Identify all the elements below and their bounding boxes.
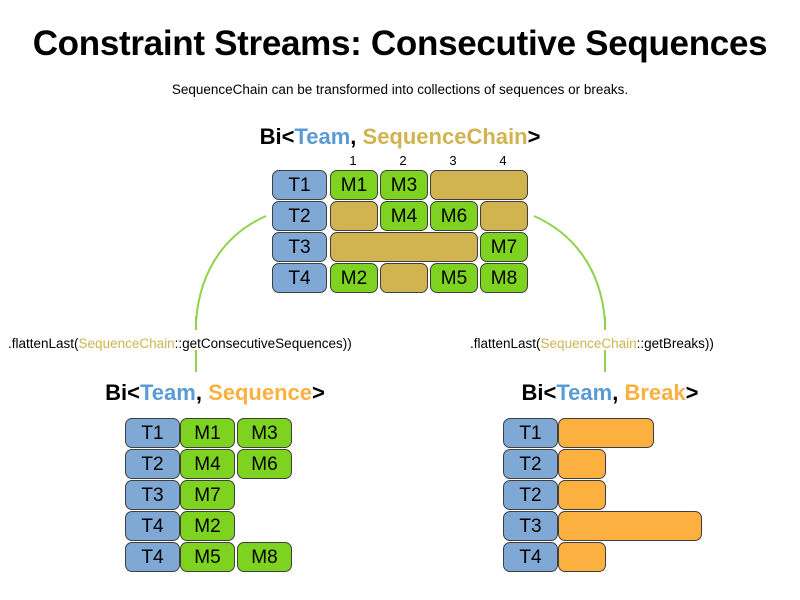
type-suffix: > bbox=[312, 380, 325, 405]
sequence-team-block-T1[interactable]: T1 bbox=[125, 418, 180, 448]
break-bar bbox=[558, 511, 702, 541]
source-type-header: Bi<Team, SequenceChain> bbox=[250, 124, 550, 150]
source-gap-block bbox=[430, 170, 528, 200]
type-suffix: > bbox=[528, 124, 541, 149]
source-column-label-4: 4 bbox=[479, 153, 527, 168]
sequence-team-block-T4[interactable]: T4 bbox=[125, 542, 180, 572]
source-match-block-M7[interactable]: M7 bbox=[480, 232, 528, 262]
source-team-block-T2[interactable]: T2 bbox=[272, 201, 327, 231]
sequence-match-block-M1[interactable]: M1 bbox=[180, 418, 235, 448]
sequence-team-block-T2[interactable]: T2 bbox=[125, 449, 180, 479]
sequence-team-block-T4[interactable]: T4 bbox=[125, 511, 180, 541]
type-prefix: Bi< bbox=[522, 380, 557, 405]
method-suffix: ::getBreaks)) bbox=[637, 336, 714, 351]
method-prefix: .flattenLast( bbox=[470, 336, 541, 351]
type-separator: , bbox=[350, 124, 362, 149]
source-match-block-M1[interactable]: M1 bbox=[330, 170, 378, 200]
sequence-match-block-M3[interactable]: M3 bbox=[237, 418, 292, 448]
type-separator: , bbox=[196, 380, 208, 405]
source-gap-block bbox=[330, 232, 478, 262]
source-gap-block bbox=[380, 263, 428, 293]
break-team-block-T2[interactable]: T2 bbox=[503, 480, 558, 510]
sequence-type-header: Bi<Team, Sequence> bbox=[75, 380, 355, 406]
sequence-match-block-M2[interactable]: M2 bbox=[180, 511, 235, 541]
type-prefix: Bi< bbox=[260, 124, 295, 149]
type-generic-sequencechain: SequenceChain bbox=[363, 124, 528, 149]
source-gap-block bbox=[480, 201, 528, 231]
break-bar bbox=[558, 480, 606, 510]
type-generic-team: Team bbox=[294, 124, 350, 149]
method-label-breaks: .flattenLast(SequenceChain::getBreaks)) bbox=[470, 336, 714, 351]
method-type: SequenceChain bbox=[541, 336, 637, 351]
type-suffix: > bbox=[686, 380, 699, 405]
source-column-label-2: 2 bbox=[379, 153, 427, 168]
break-bar bbox=[558, 449, 606, 479]
source-match-block-M6[interactable]: M6 bbox=[430, 201, 478, 231]
sequence-match-block-M4[interactable]: M4 bbox=[180, 449, 235, 479]
break-team-block-T2[interactable]: T2 bbox=[503, 449, 558, 479]
break-bar bbox=[558, 542, 606, 572]
type-generic-team: Team bbox=[556, 380, 612, 405]
type-prefix: Bi< bbox=[105, 380, 140, 405]
source-column-label-3: 3 bbox=[429, 153, 477, 168]
method-suffix: ::getConsecutiveSequences)) bbox=[175, 336, 352, 351]
break-team-block-T3[interactable]: T3 bbox=[503, 511, 558, 541]
source-gap-block bbox=[330, 201, 378, 231]
source-team-block-T3[interactable]: T3 bbox=[272, 232, 327, 262]
sequence-match-block-M5[interactable]: M5 bbox=[180, 542, 235, 572]
method-prefix: .flattenLast( bbox=[8, 336, 79, 351]
source-match-block-M4[interactable]: M4 bbox=[380, 201, 428, 231]
break-team-block-T1[interactable]: T1 bbox=[503, 418, 558, 448]
sequence-match-block-M8[interactable]: M8 bbox=[237, 542, 292, 572]
sequence-match-block-M6[interactable]: M6 bbox=[237, 449, 292, 479]
sequence-team-block-T3[interactable]: T3 bbox=[125, 480, 180, 510]
method-type: SequenceChain bbox=[79, 336, 175, 351]
break-team-block-T4[interactable]: T4 bbox=[503, 542, 558, 572]
break-bar bbox=[558, 418, 654, 448]
method-label-consecutive-sequences: .flattenLast(SequenceChain::getConsecuti… bbox=[8, 336, 352, 351]
source-match-block-M3[interactable]: M3 bbox=[380, 170, 428, 200]
type-separator: , bbox=[612, 380, 624, 405]
type-generic-break: Break bbox=[624, 380, 685, 405]
source-match-block-M2[interactable]: M2 bbox=[330, 263, 378, 293]
page-title: Constraint Streams: Consecutive Sequence… bbox=[0, 24, 800, 64]
source-team-block-T4[interactable]: T4 bbox=[272, 263, 327, 293]
source-match-block-M5[interactable]: M5 bbox=[430, 263, 478, 293]
type-generic-team: Team bbox=[140, 380, 196, 405]
source-match-block-M8[interactable]: M8 bbox=[480, 263, 528, 293]
page-subtitle: SequenceChain can be transformed into co… bbox=[0, 82, 800, 97]
sequence-match-block-M7[interactable]: M7 bbox=[180, 480, 235, 510]
type-generic-sequence: Sequence bbox=[208, 380, 312, 405]
source-column-label-1: 1 bbox=[329, 153, 377, 168]
source-team-block-T1[interactable]: T1 bbox=[272, 170, 327, 200]
diagram-canvas: Constraint Streams: Consecutive Sequence… bbox=[0, 0, 800, 600]
break-type-header: Bi<Team, Break> bbox=[470, 380, 750, 406]
